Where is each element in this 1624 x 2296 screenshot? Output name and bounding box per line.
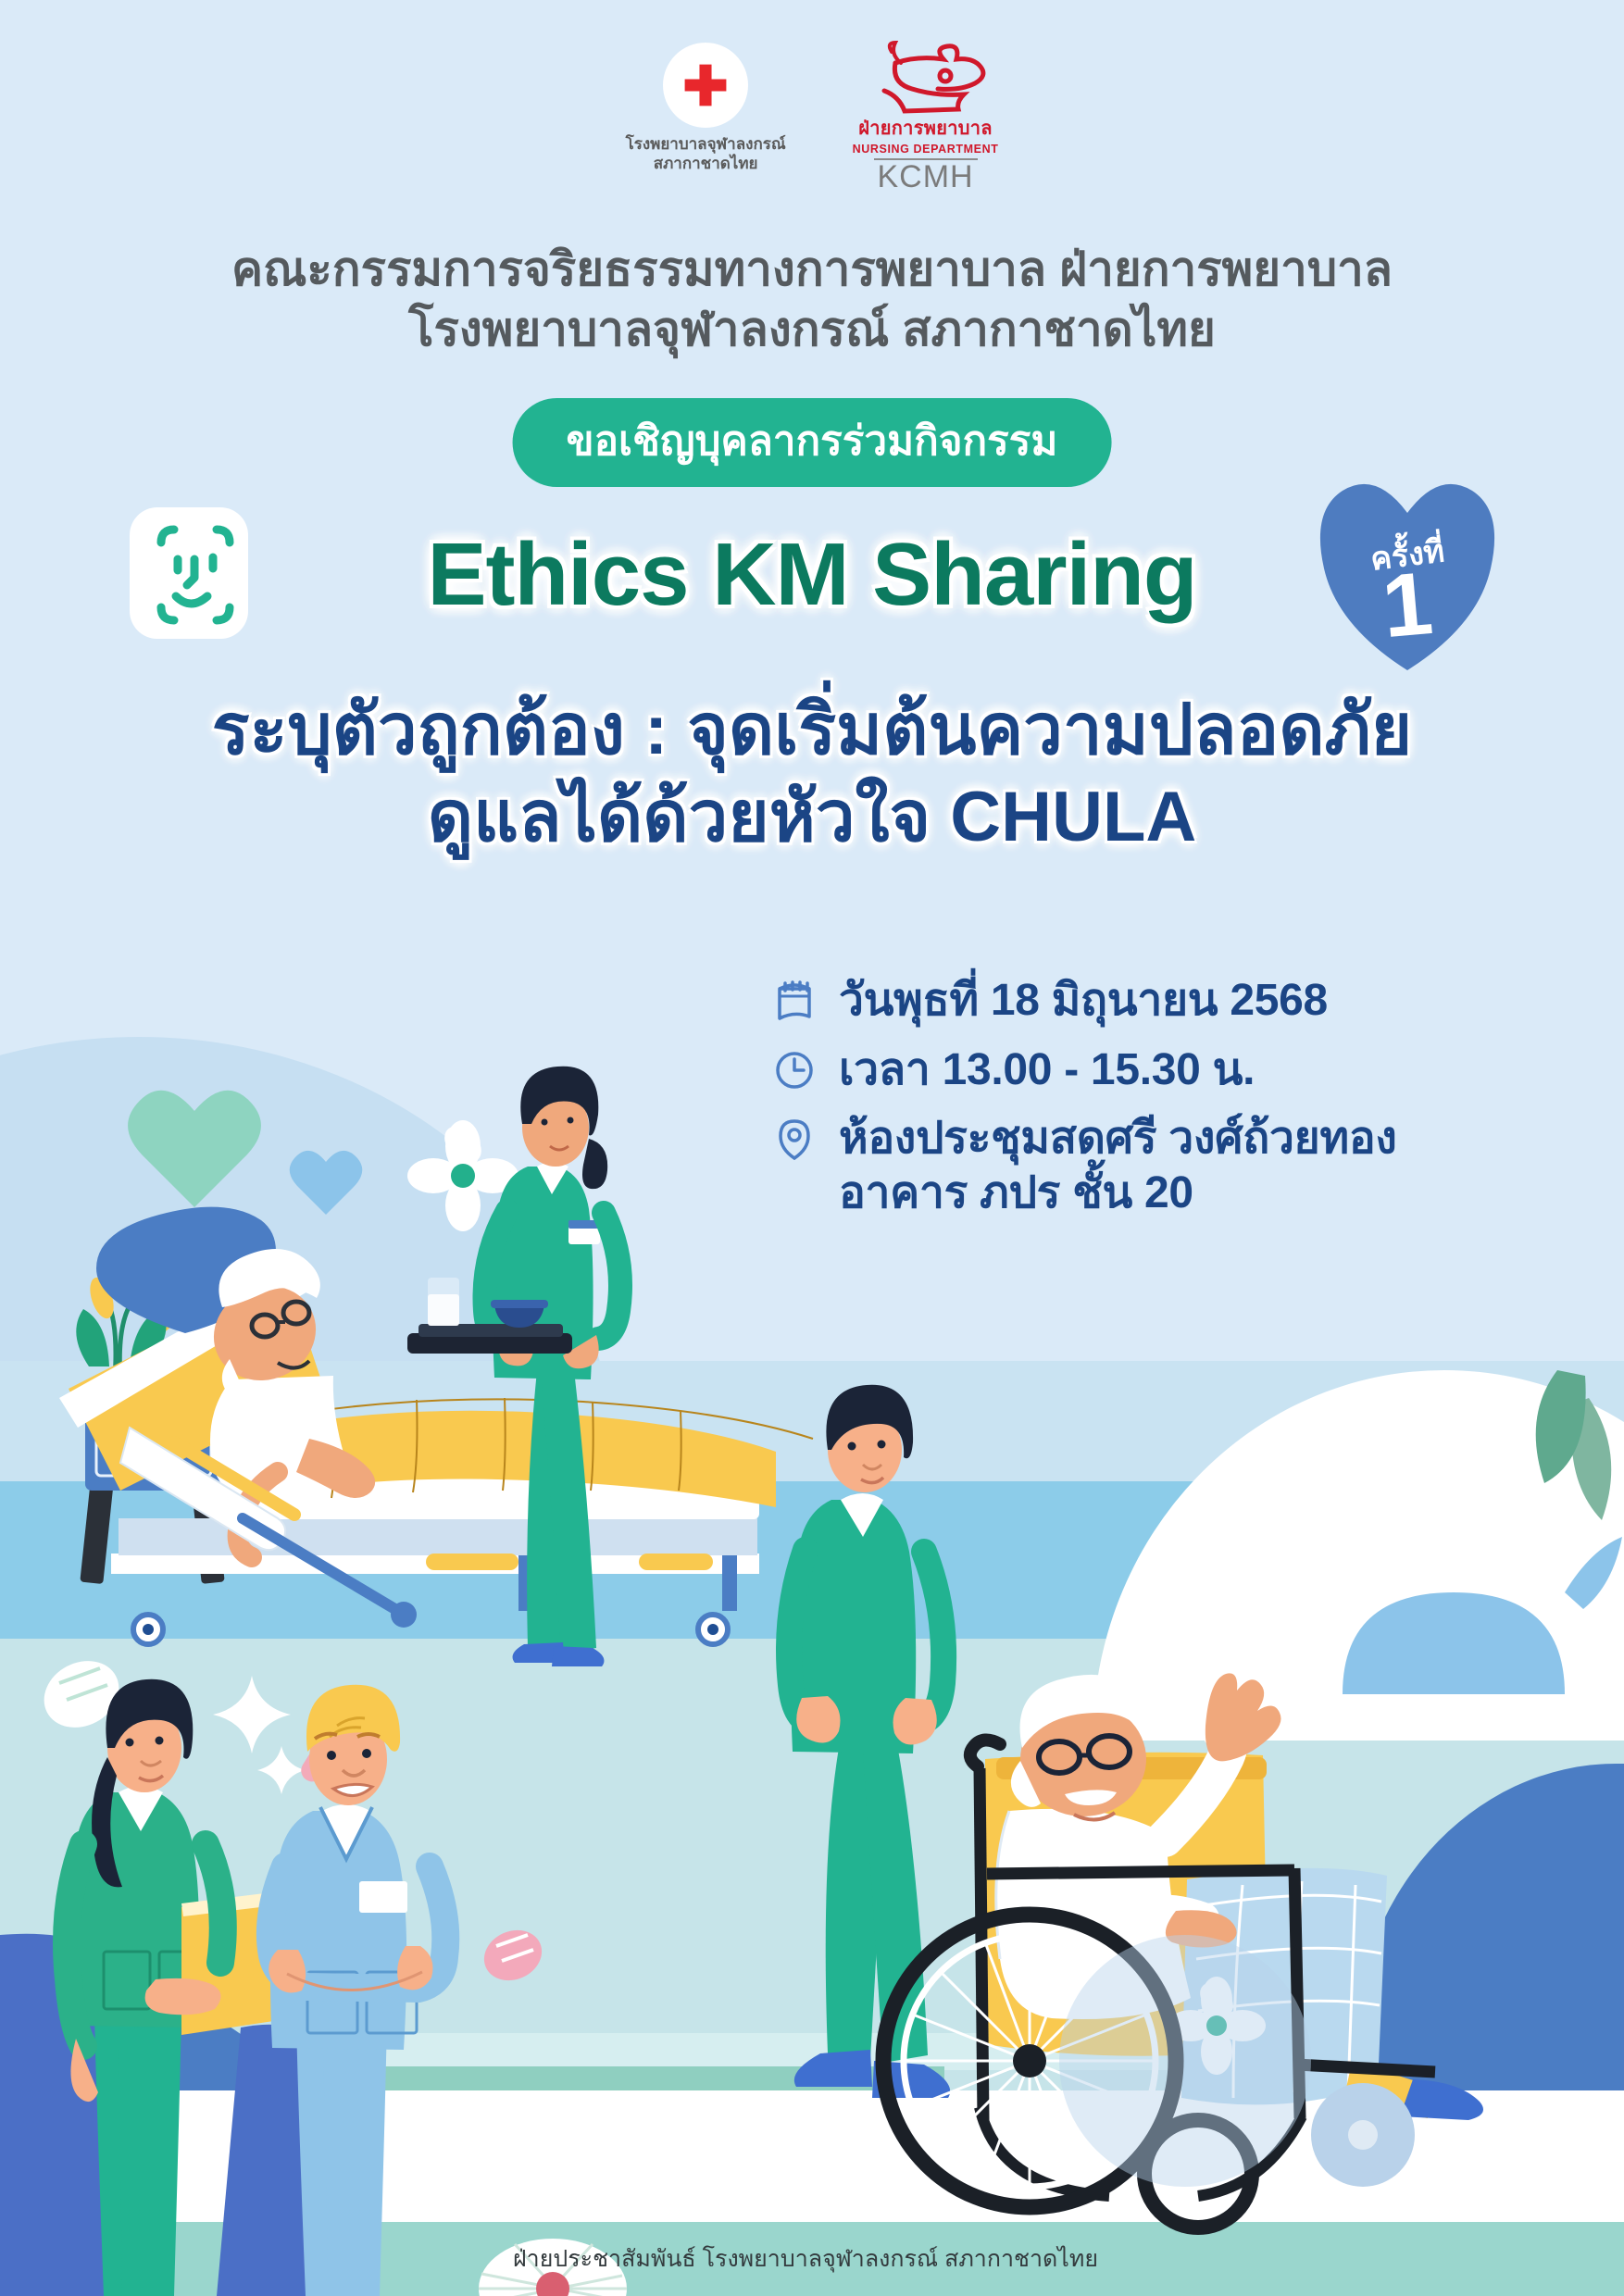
page-subtitle: ระบุตัวถูกต้อง : จุดเริ่มต้นความปลอดภัย …	[0, 687, 1624, 861]
event-details: วันพุธที่ 18 มิถุนายน 2568 เวลา 13.00 - …	[774, 974, 1515, 1235]
organization-line1: คณะกรรมการจริยธรรมทางการพยาบาล ฝ่ายการพย…	[0, 239, 1624, 299]
redcross-caption-line2: สภากาชาดไทย	[626, 154, 786, 173]
invitation-pill: ขอเชิญบุคลากรร่วมกิจกรรม	[513, 398, 1112, 487]
illustration-two-nurses	[19, 1629, 537, 2296]
redcross-logo: โรงพยาบาลจุฬาลงกรณ์ สภากาชาดไทย	[626, 43, 786, 174]
location-pin-icon	[774, 1112, 818, 1162]
footer-credit: ฝ่ายประชาสัมพันธ์ โรงพยาบาลจุฬาลงกรณ์ สภ…	[0, 2240, 1624, 2277]
kcmh-abbrev: KCMH	[877, 161, 973, 193]
calendar-icon	[774, 974, 818, 1024]
event-detail-time: เวลา 13.00 - 15.30 น.	[774, 1043, 1515, 1098]
event-venue-line2: อาคาร ภปร ชั้น 20	[839, 1167, 1397, 1221]
nursing-logo-english: NURSING DEPARTMENT	[853, 143, 999, 156]
redcross-caption-line1: โรงพยาบาลจุฬาลงกรณ์	[626, 134, 786, 154]
event-date-text: วันพุธที่ 18 มิถุนายน 2568	[839, 974, 1328, 1029]
organization-line2: โรงพยาบาลจุฬาลงกรณ์ สภากาชาดไทย	[0, 299, 1624, 359]
nursing-department-logo: ฝ่ายการพยาบาล NURSING DEPARTMENT KCMH	[853, 43, 999, 193]
poster-root: โรงพยาบาลจุฬาลงกรณ์ สภากาชาดไทย ฝ่ายการพ…	[0, 0, 1624, 2296]
organization-heading: คณะกรรมการจริยธรรมทางการพยาบาล ฝ่ายการพย…	[0, 239, 1624, 360]
nursing-logo-thai: ฝ่ายการพยาบาล	[858, 113, 993, 143]
event-venue-line1: ห้องประชุมสดศรี วงศ์ถ้วยทอง	[839, 1112, 1397, 1167]
illustration-hospital-bed-scene	[0, 1000, 833, 1574]
figure-elderly-man-in-wheelchair	[883, 1673, 1483, 2227]
illustration-wheelchair-scene	[787, 1361, 1624, 2296]
red-cross-icon	[663, 43, 748, 128]
page-subtitle-line2: ดูแลได้ด้วยหัวใจ CHULA	[0, 774, 1624, 861]
header-logos: โรงพยาบาลจุฬาลงกรณ์ สภากาชาดไทย ฝ่ายการพ…	[0, 43, 1624, 193]
event-detail-venue: ห้องประชุมสดศรี วงศ์ถ้วยทอง อาคาร ภปร ชั…	[774, 1112, 1515, 1220]
page-subtitle-line1: ระบุตัวถูกต้อง : จุดเริ่มต้นความปลอดภัย	[0, 687, 1624, 774]
edition-badge-number: 1	[1315, 554, 1500, 657]
clock-icon	[774, 1043, 818, 1093]
event-time-text: เวลา 13.00 - 15.30 น.	[839, 1043, 1255, 1098]
nursing-lamp-icon	[866, 43, 986, 111]
event-detail-date: วันพุธที่ 18 มิถุนายน 2568	[774, 974, 1515, 1029]
